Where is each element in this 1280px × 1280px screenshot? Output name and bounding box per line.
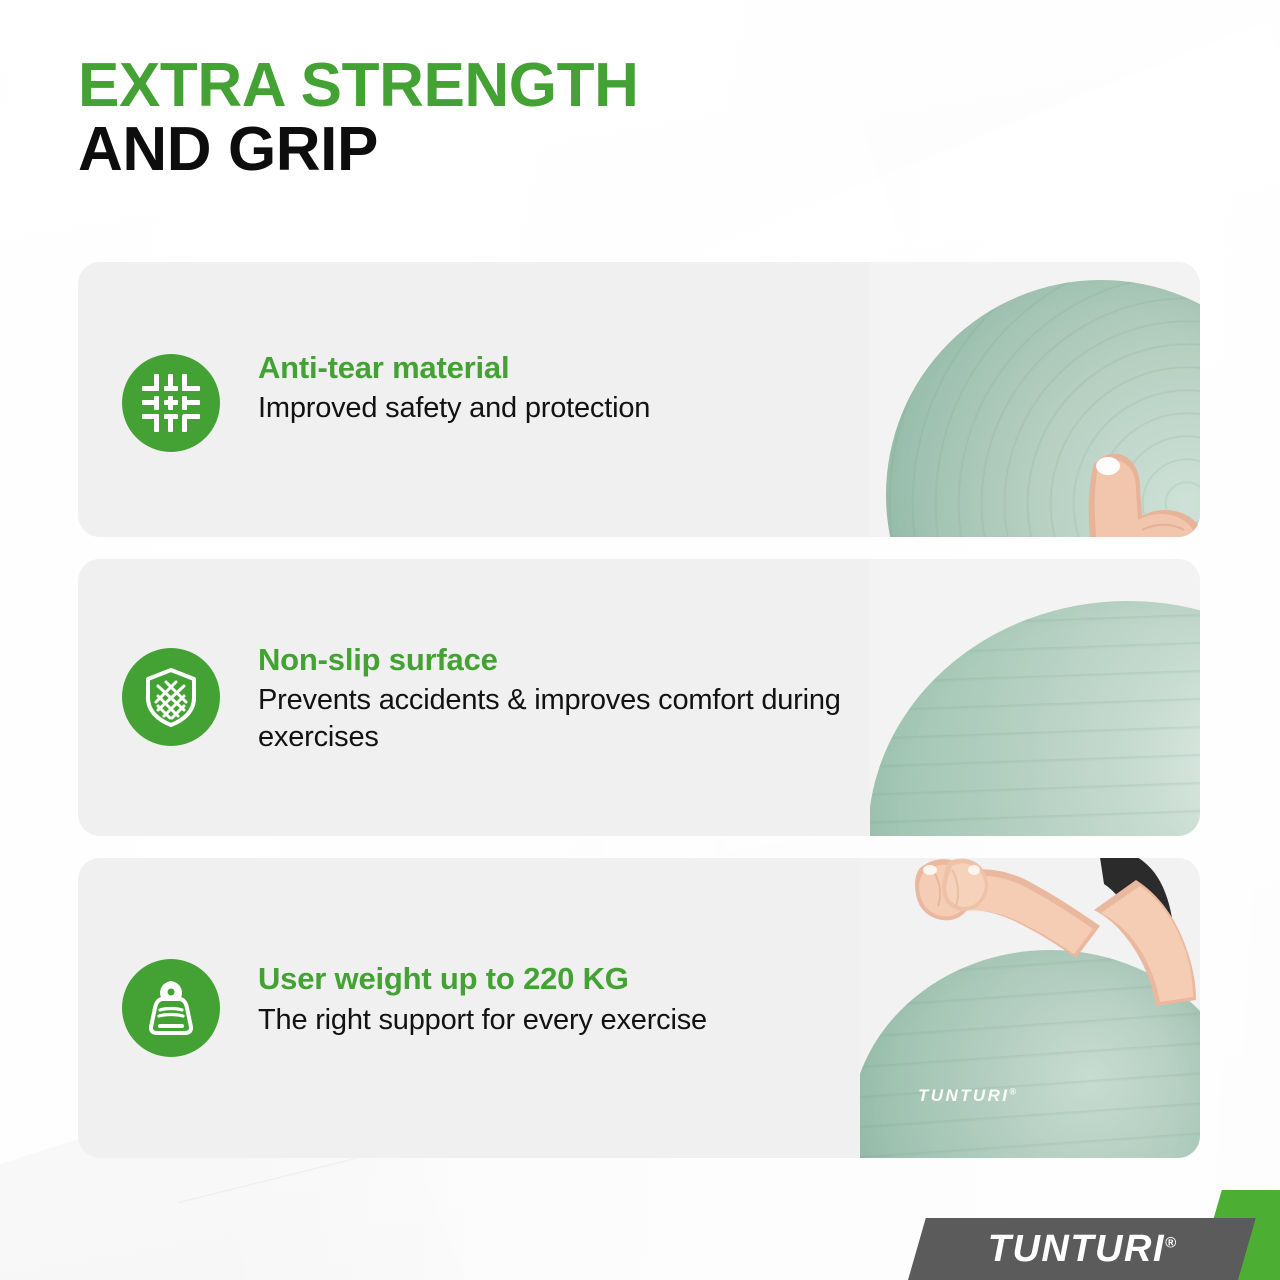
feature-description: Prevents accidents & improves comfort du… xyxy=(258,682,883,755)
brand-logo: TUNTURI® xyxy=(850,1190,1280,1280)
title-line-green: EXTRA STRENGTH xyxy=(78,54,638,118)
logo-wordmark: TUNTURI® xyxy=(988,1228,1176,1271)
feature-description: Improved safety and protection xyxy=(258,390,650,427)
ball-brand-label: TUNTURI® xyxy=(918,1086,1016,1106)
feature-title: Non-slip surface xyxy=(258,642,883,678)
woman-leaning-on-exercise-ball-photo: TUNTURI® xyxy=(860,858,1200,1158)
feature-text-block: User weight up to 220 KG The right suppo… xyxy=(258,959,707,1038)
feature-title: Anti-tear material xyxy=(258,350,650,386)
shield-grip-icon xyxy=(122,648,220,746)
feature-text-block: Non-slip surface Prevents accidents & im… xyxy=(258,640,883,756)
weight-kettlebell-icon xyxy=(122,959,220,1057)
feature-text-block: Anti-tear material Improved safety and p… xyxy=(258,348,650,427)
woven-fabric-icon xyxy=(122,354,220,452)
pointing-finger-graphic xyxy=(1086,412,1200,537)
exercise-ball-closeup-photo xyxy=(870,559,1200,836)
feature-title: User weight up to 220 KG xyxy=(258,961,707,997)
exercise-ball-graphic xyxy=(870,601,1200,836)
feature-card-list: Anti-tear material Improved safety and p… xyxy=(78,262,1200,1158)
feature-card-user-weight: TUNTURI® xyxy=(78,858,1200,1158)
feature-card-non-slip: Non-slip surface Prevents accidents & im… xyxy=(78,559,1200,836)
feature-card-anti-tear: Anti-tear material Improved safety and p… xyxy=(78,262,1200,537)
logo-gray-bar: TUNTURI® xyxy=(908,1218,1256,1280)
title-line-black: AND GRIP xyxy=(78,118,638,182)
person-arms-graphic xyxy=(890,858,1200,1034)
page-title: EXTRA STRENGTH AND GRIP xyxy=(78,54,638,182)
feature-description: The right support for every exercise xyxy=(258,1002,707,1039)
exercise-ball-finger-press-photo xyxy=(870,262,1200,537)
